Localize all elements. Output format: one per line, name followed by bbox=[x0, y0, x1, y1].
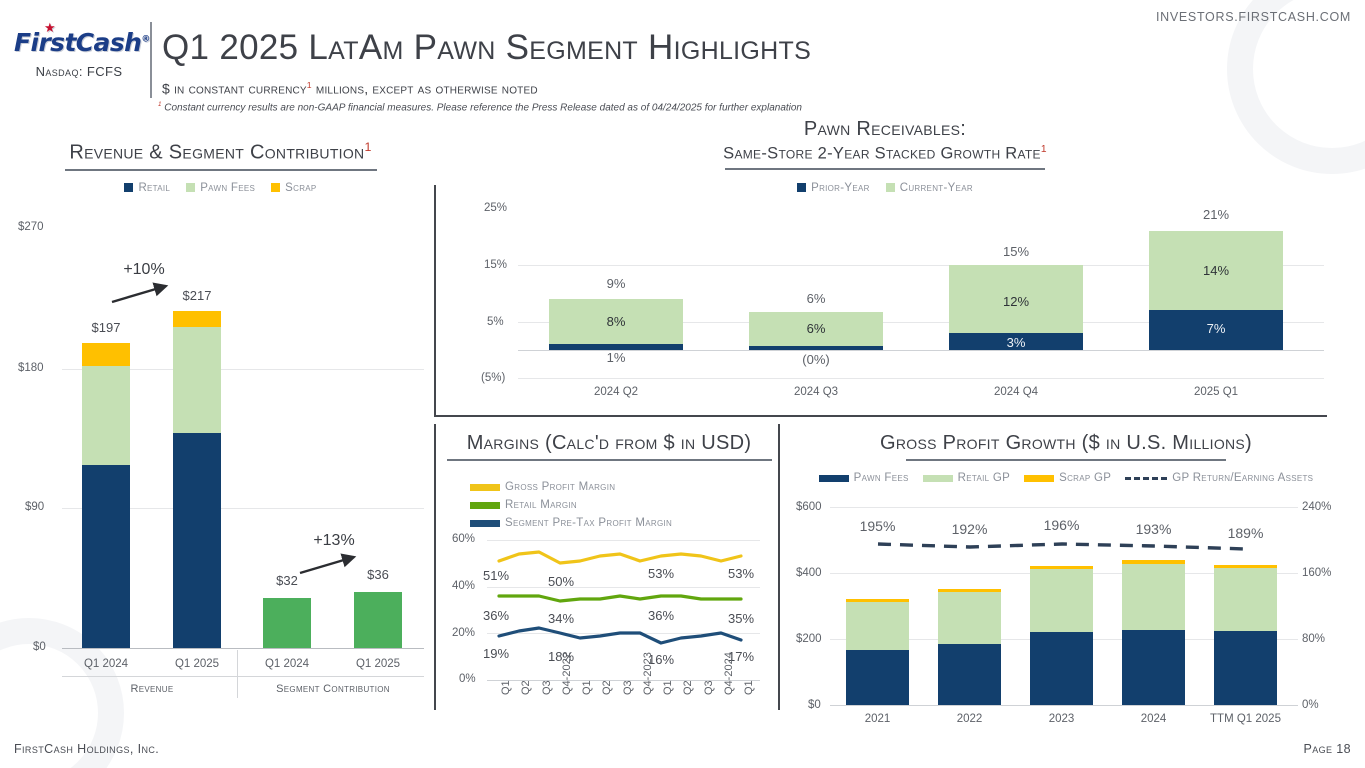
gpgrowth-plot: $600 $400 $200 $0 240% 160% 80% 0% bbox=[0, 0, 1365, 768]
gpgrowth-axis-zero bbox=[830, 705, 1298, 706]
gpgrowth-ytick-left-200: $200 bbox=[796, 633, 822, 645]
gp-return-label-2022: 192% bbox=[938, 521, 1001, 537]
gp-return-label-ttm2025: 189% bbox=[1214, 525, 1277, 541]
gpgrowth-cat-4: TTM Q1 2025 bbox=[1204, 713, 1287, 725]
bar-gp-2021-pawnfees[interactable] bbox=[846, 650, 909, 705]
gpgrowth-cat-3: 2024 bbox=[1112, 713, 1195, 725]
bar-gp-ttm2025-pawnfees[interactable] bbox=[1214, 631, 1277, 705]
gpgrowth-cat-0: 2021 bbox=[836, 713, 919, 725]
gpgrowth-ytick-right-0: 0% bbox=[1302, 699, 1319, 711]
gp-return-label-2023: 196% bbox=[1030, 517, 1093, 533]
bar-gp-2022-pawnfees[interactable] bbox=[938, 644, 1001, 705]
gpgrowth-ytick-left-600: $600 bbox=[796, 501, 822, 513]
gpgrowth-ytick-left-400: $400 bbox=[796, 567, 822, 579]
gpgrowth-cat-2: 2023 bbox=[1020, 713, 1103, 725]
gp-return-label-2024: 193% bbox=[1122, 521, 1185, 537]
gpgrowth-ytick-right-160: 160% bbox=[1302, 567, 1331, 579]
gpgrowth-ytick-right-80: 80% bbox=[1302, 633, 1325, 645]
gp-return-label-2021: 195% bbox=[846, 518, 909, 534]
bar-gp-2024-pawnfees[interactable] bbox=[1122, 630, 1185, 705]
gpgrowth-ytick-right-240: 240% bbox=[1302, 501, 1331, 513]
slide-root: INVESTORS.FIRSTCASH.COM ★FirstCash® Nasd… bbox=[0, 0, 1365, 768]
gpgrowth-cat-1: 2022 bbox=[928, 713, 1011, 725]
footer-page-number: Page 18 bbox=[1303, 742, 1351, 756]
footer-company: FirstCash Holdings, Inc. bbox=[14, 742, 159, 756]
gpgrowth-ytick-left-0: $0 bbox=[808, 699, 821, 711]
bar-gp-2023-pawnfees[interactable] bbox=[1030, 632, 1093, 705]
